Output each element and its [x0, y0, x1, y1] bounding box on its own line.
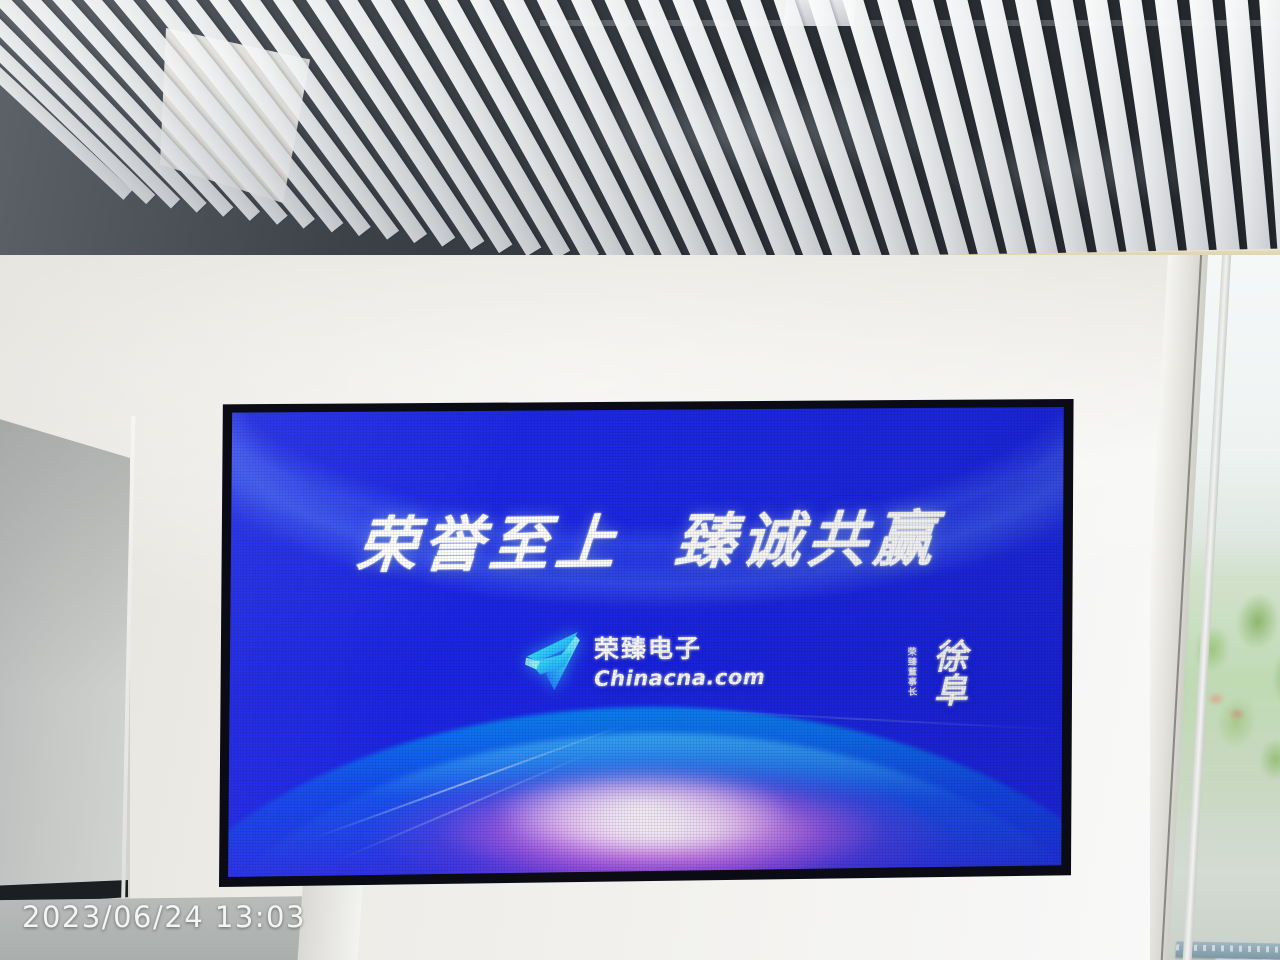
left-alcove-shadow — [0, 418, 130, 918]
wall-return-edge — [297, 880, 363, 960]
led-screen-display[interactable]: 荣誉至上 臻诚共赢 — [228, 407, 1068, 877]
right-window — [1150, 255, 1280, 960]
photograph-scene: 荣誉至上 臻诚共赢 — [0, 0, 1280, 960]
screen-glare — [228, 407, 1068, 877]
photo-timestamp: 2023/06/24 13:03 — [22, 900, 306, 934]
